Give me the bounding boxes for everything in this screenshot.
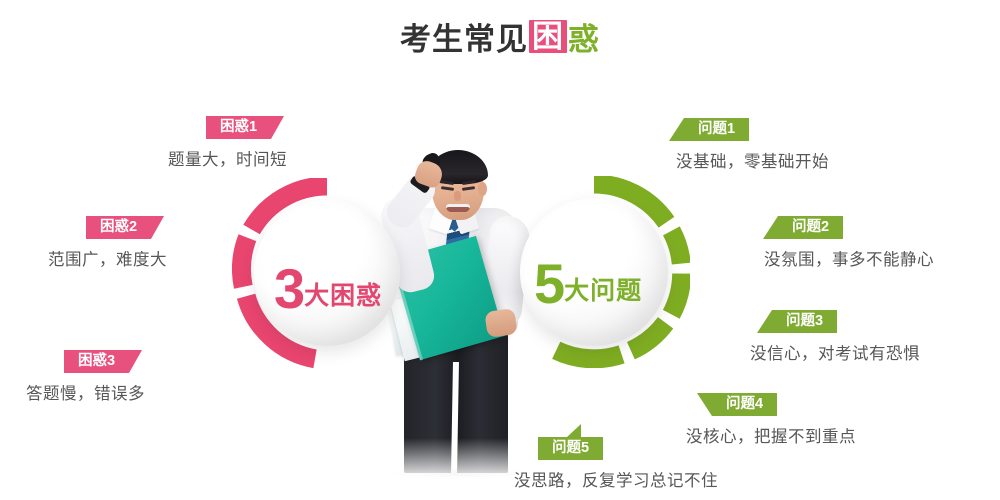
ring-left-3-difficulties: 3大困惑	[232, 178, 422, 368]
ring-left-segment-2	[241, 238, 247, 287]
difficulty-desc-1: 题量大，时间短	[168, 146, 287, 170]
problem-desc-2: 没氛围，事多不能静心	[764, 246, 934, 270]
ring-left-number: 3	[274, 257, 304, 320]
problem-badge-4: 问题4	[712, 393, 777, 416]
ring-left-suffix: 大困惑	[304, 282, 382, 310]
ear	[478, 182, 487, 196]
problem-item-5[interactable]: 问题5 没思路，反复学习总记不住	[538, 437, 718, 491]
poster-canvas: 考生常见困惑	[0, 0, 1000, 500]
nose	[454, 191, 461, 201]
difficulty-item-1[interactable]: 困惑1 题量大，时间短	[206, 116, 287, 170]
problem-item-3[interactable]: 问题3 没信心，对考试有恐惧	[772, 310, 920, 364]
problem-item-1[interactable]: 问题1 没基础，零基础开始	[684, 118, 829, 172]
ring-right-number: 5	[534, 252, 564, 315]
problem-badge-3: 问题3	[772, 310, 837, 333]
page-title: 考生常见困惑	[0, 14, 1000, 59]
ring-right-label: 5大问题	[534, 256, 642, 312]
problem-desc-5: 没思路，反复学习总记不住	[514, 467, 718, 491]
page-title-boxed-char: 困	[529, 20, 567, 53]
difficulty-badge-3: 困惑3	[64, 350, 129, 373]
ring-right-segment-2	[671, 231, 681, 264]
problem-item-2[interactable]: 问题2 没氛围，事多不能静心	[778, 216, 934, 270]
page-title-green-char: 惑	[568, 14, 600, 59]
problem-badge-2: 问题2	[778, 216, 843, 239]
ring-right-segment-5	[556, 350, 621, 359]
ring-left-label: 3大困惑	[274, 261, 382, 317]
problem-badge-1: 问题1	[684, 118, 749, 141]
difficulty-item-2[interactable]: 困惑2 范围广，难度大	[86, 216, 167, 270]
mouth	[446, 204, 470, 212]
problem-item-4[interactable]: 问题4 没核心，把握不到重点	[712, 393, 856, 447]
difficulty-item-3[interactable]: 困惑3 答题慢，错误多	[64, 350, 145, 404]
ring-right-suffix: 大问题	[564, 277, 642, 305]
ring-right-5-problems: 5大问题	[498, 176, 690, 368]
problem-badge-5: 问题5	[538, 437, 603, 460]
problem-desc-3: 没信心，对考试有恐惧	[750, 340, 920, 364]
difficulty-desc-3: 答题慢，错误多	[26, 380, 145, 404]
page-title-part1: 考生常见	[400, 14, 528, 59]
problem-desc-1: 没基础，零基础开始	[676, 148, 829, 172]
difficulty-badge-1: 困惑1	[206, 116, 271, 139]
difficulty-desc-2: 范围广，难度大	[48, 246, 167, 270]
difficulty-badge-2: 困惑2	[86, 216, 151, 239]
ring-right-segment-3	[671, 274, 681, 315]
